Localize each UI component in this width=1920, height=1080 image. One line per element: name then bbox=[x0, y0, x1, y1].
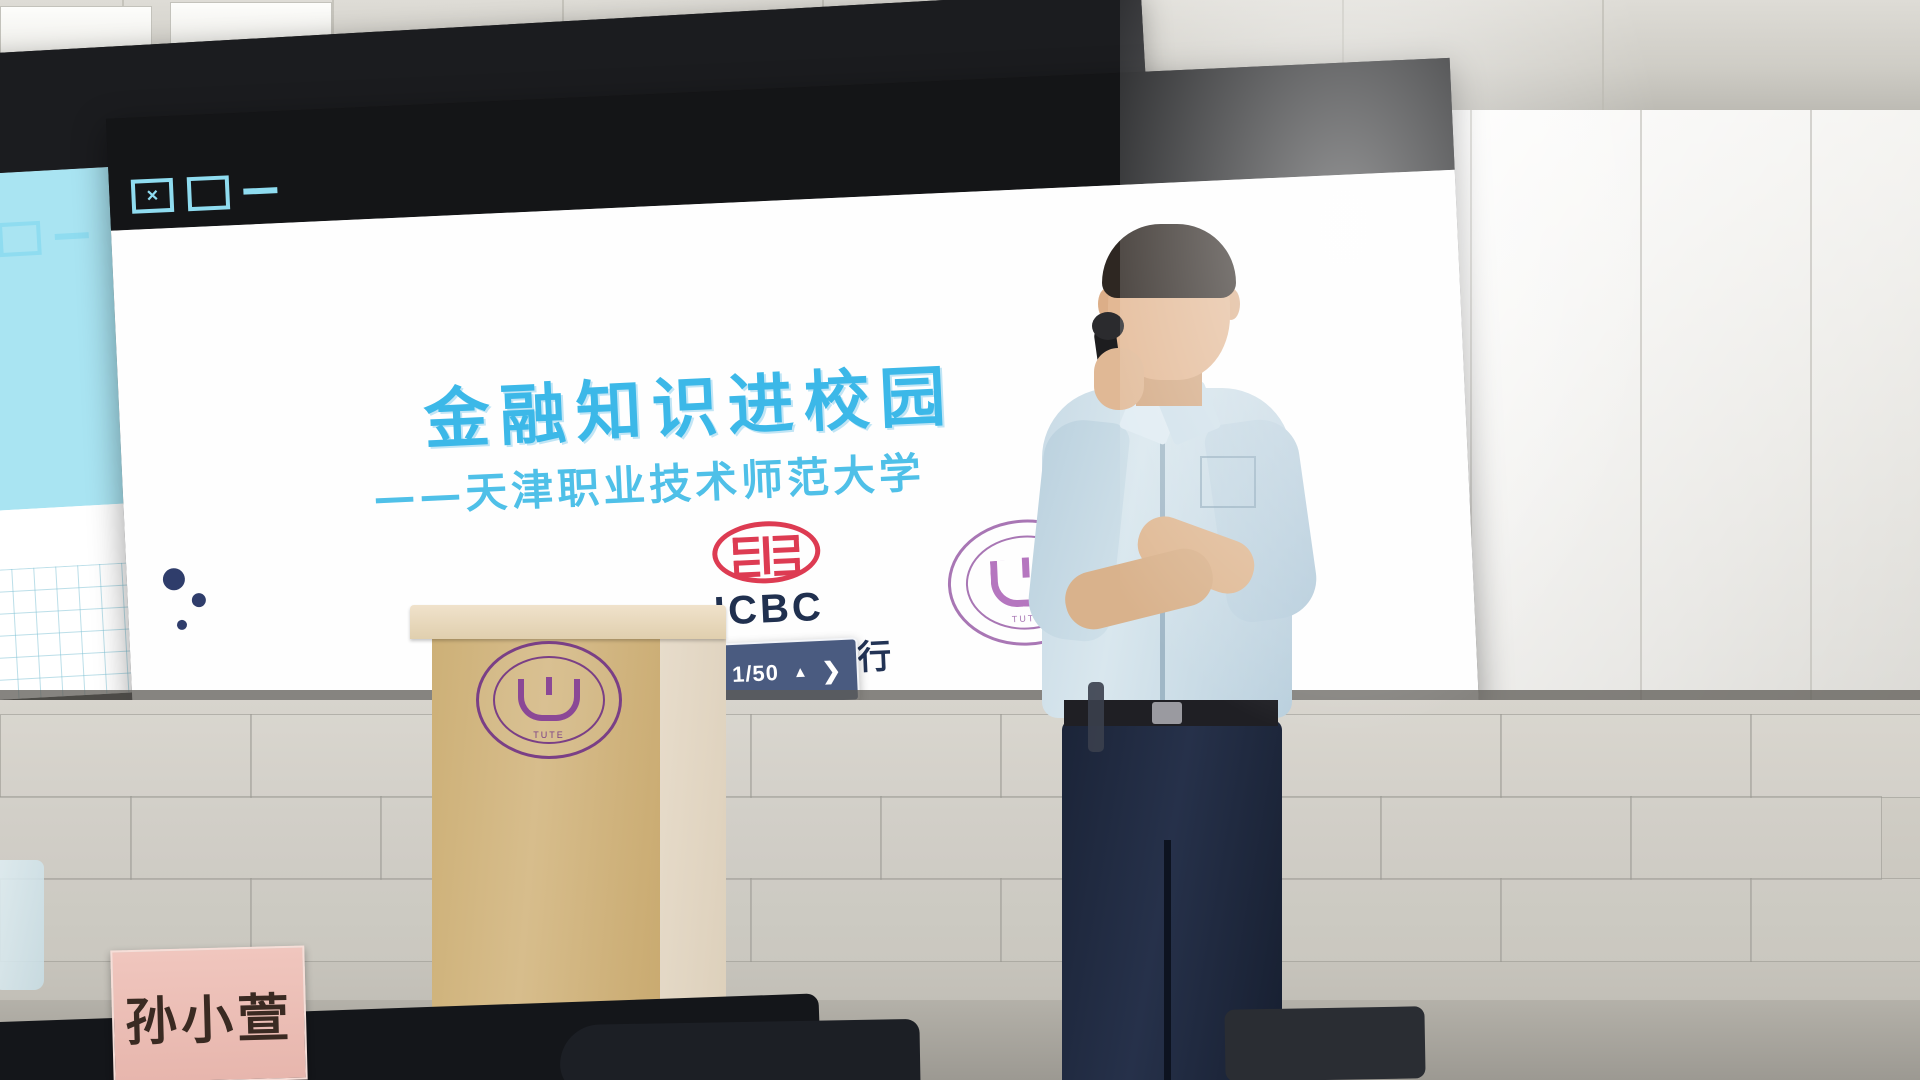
maximize-icon[interactable] bbox=[0, 221, 42, 257]
belt-buckle bbox=[1152, 702, 1182, 724]
presenter bbox=[1040, 230, 1320, 1080]
page-indicator: 1/50 bbox=[732, 660, 780, 688]
decor-dot bbox=[162, 568, 185, 591]
chair-back bbox=[1224, 1006, 1425, 1080]
lecture-hall-photo: × × 金融知识进校园 ——天津职业技术师范大学 ICBC 中国 bbox=[0, 0, 1920, 1080]
microphone-head bbox=[1092, 312, 1124, 340]
podium-seal-abbrev: TUTE bbox=[495, 730, 603, 740]
keychain bbox=[1088, 682, 1104, 752]
close-icon[interactable]: × bbox=[131, 178, 174, 214]
minimize-icon[interactable] bbox=[54, 222, 89, 250]
icbc-logo-icon bbox=[711, 519, 822, 586]
slide-menu-button[interactable]: ▲ bbox=[793, 663, 809, 681]
front-table-equipment bbox=[559, 1019, 920, 1080]
minimize-icon[interactable] bbox=[243, 177, 278, 205]
podium-university-seal-icon: TUTE bbox=[476, 641, 622, 759]
name-card: 孙小萱 bbox=[110, 945, 307, 1080]
decor-dot bbox=[192, 593, 207, 608]
podium: TUTE bbox=[418, 605, 718, 1035]
water-bottle bbox=[0, 860, 44, 990]
name-card-text: 孙小萱 bbox=[124, 975, 294, 1054]
maximize-icon[interactable] bbox=[187, 175, 230, 211]
decor-dot bbox=[177, 620, 187, 630]
next-slide-button[interactable]: ❯ bbox=[821, 657, 841, 685]
